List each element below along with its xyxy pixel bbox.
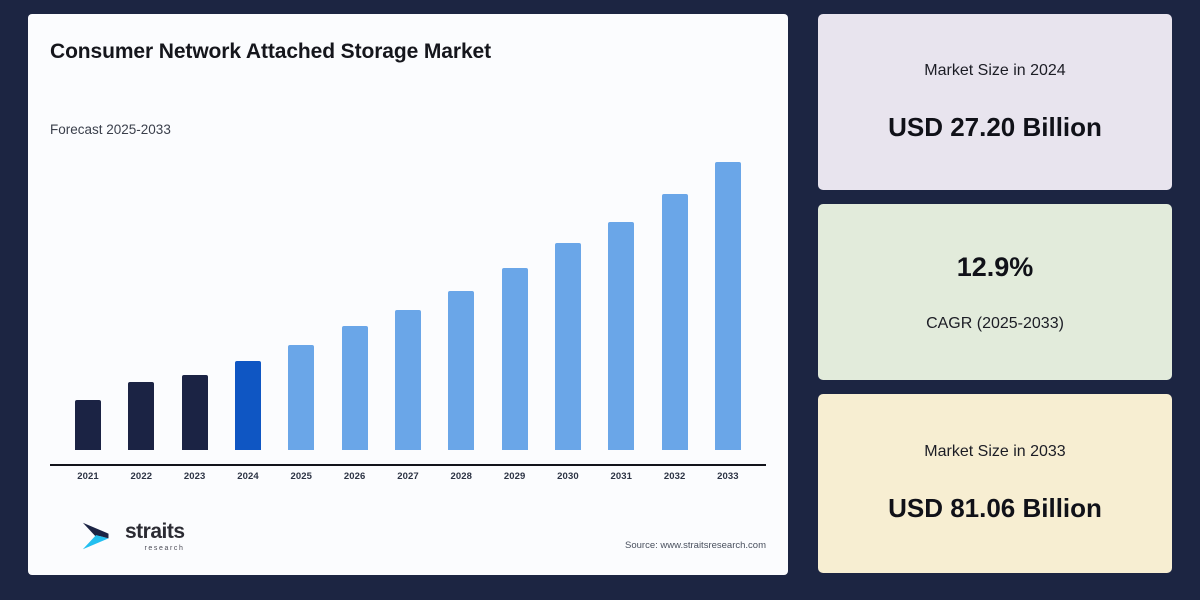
x-tick-2028: 2028 xyxy=(435,471,487,482)
bar-2029 xyxy=(502,268,528,450)
bar-slot xyxy=(649,154,701,450)
bar-slot xyxy=(115,154,167,450)
bar-2023 xyxy=(182,375,208,450)
bar-slot xyxy=(62,154,114,450)
stat-card-market-size-2033: Market Size in 2033 USD 81.06 Billion xyxy=(818,394,1172,573)
bar-slot xyxy=(169,154,221,450)
x-axis-tick-labels: 2021202220232024202520262027202820292030… xyxy=(50,471,766,482)
x-tick-2027: 2027 xyxy=(382,471,434,482)
bar-slot xyxy=(329,154,381,450)
stat-card-value: USD 27.20 Billion xyxy=(888,112,1102,143)
x-tick-2021: 2021 xyxy=(62,471,114,482)
stat-card-label: Market Size in 2033 xyxy=(924,443,1065,461)
stat-card-label: CAGR (2025-2033) xyxy=(926,315,1064,333)
x-tick-2026: 2026 xyxy=(329,471,381,482)
chart-panel: Consumer Network Attached Storage Market… xyxy=(28,14,788,575)
page-title: Consumer Network Attached Storage Market xyxy=(50,40,491,64)
stat-card-cagr: 12.9% CAGR (2025-2033) xyxy=(818,204,1172,380)
bar-2027 xyxy=(395,310,421,450)
bar-slot xyxy=(542,154,594,450)
x-tick-2033: 2033 xyxy=(702,471,754,482)
bar-2024 xyxy=(235,361,261,450)
bar-2031 xyxy=(608,222,634,450)
bar-slot xyxy=(489,154,541,450)
bar-slot xyxy=(275,154,327,450)
bar-2033 xyxy=(715,162,741,450)
bar-chart-plot-area xyxy=(50,154,766,450)
bar-2028 xyxy=(448,291,474,450)
bar-slot xyxy=(595,154,647,450)
x-tick-2023: 2023 xyxy=(169,471,221,482)
bar-2021 xyxy=(75,400,101,450)
x-tick-2031: 2031 xyxy=(595,471,647,482)
bar-slot xyxy=(702,154,754,450)
bar-2026 xyxy=(342,326,368,450)
bar-2025 xyxy=(288,345,314,450)
x-tick-2022: 2022 xyxy=(115,471,167,482)
stat-card-value: 12.9% xyxy=(957,252,1034,283)
stat-card-value: USD 81.06 Billion xyxy=(888,493,1102,524)
x-tick-2032: 2032 xyxy=(649,471,701,482)
logo-subword: research xyxy=(144,545,184,552)
x-axis-line xyxy=(50,464,766,466)
logo-wordmark: straits research xyxy=(125,521,185,552)
bar-2030 xyxy=(555,243,581,450)
x-tick-2030: 2030 xyxy=(542,471,594,482)
bar-series xyxy=(50,154,766,450)
x-tick-2025: 2025 xyxy=(275,471,327,482)
source-attribution: Source: www.straitsresearch.com xyxy=(625,540,766,551)
chart-subtitle: Forecast 2025-2033 xyxy=(50,122,171,137)
bar-2022 xyxy=(128,382,154,450)
stat-card-label: Market Size in 2024 xyxy=(924,62,1065,80)
bar-slot xyxy=(222,154,274,450)
straits-arrow-icon xyxy=(80,517,118,555)
x-tick-2024: 2024 xyxy=(222,471,274,482)
bar-2032 xyxy=(662,194,688,450)
stat-card-market-size-2024: Market Size in 2024 USD 27.20 Billion xyxy=(818,14,1172,190)
bar-slot xyxy=(382,154,434,450)
x-tick-2029: 2029 xyxy=(489,471,541,482)
logo-word: straits xyxy=(125,521,185,542)
straits-research-logo: straits research xyxy=(80,517,185,555)
bar-slot xyxy=(435,154,487,450)
